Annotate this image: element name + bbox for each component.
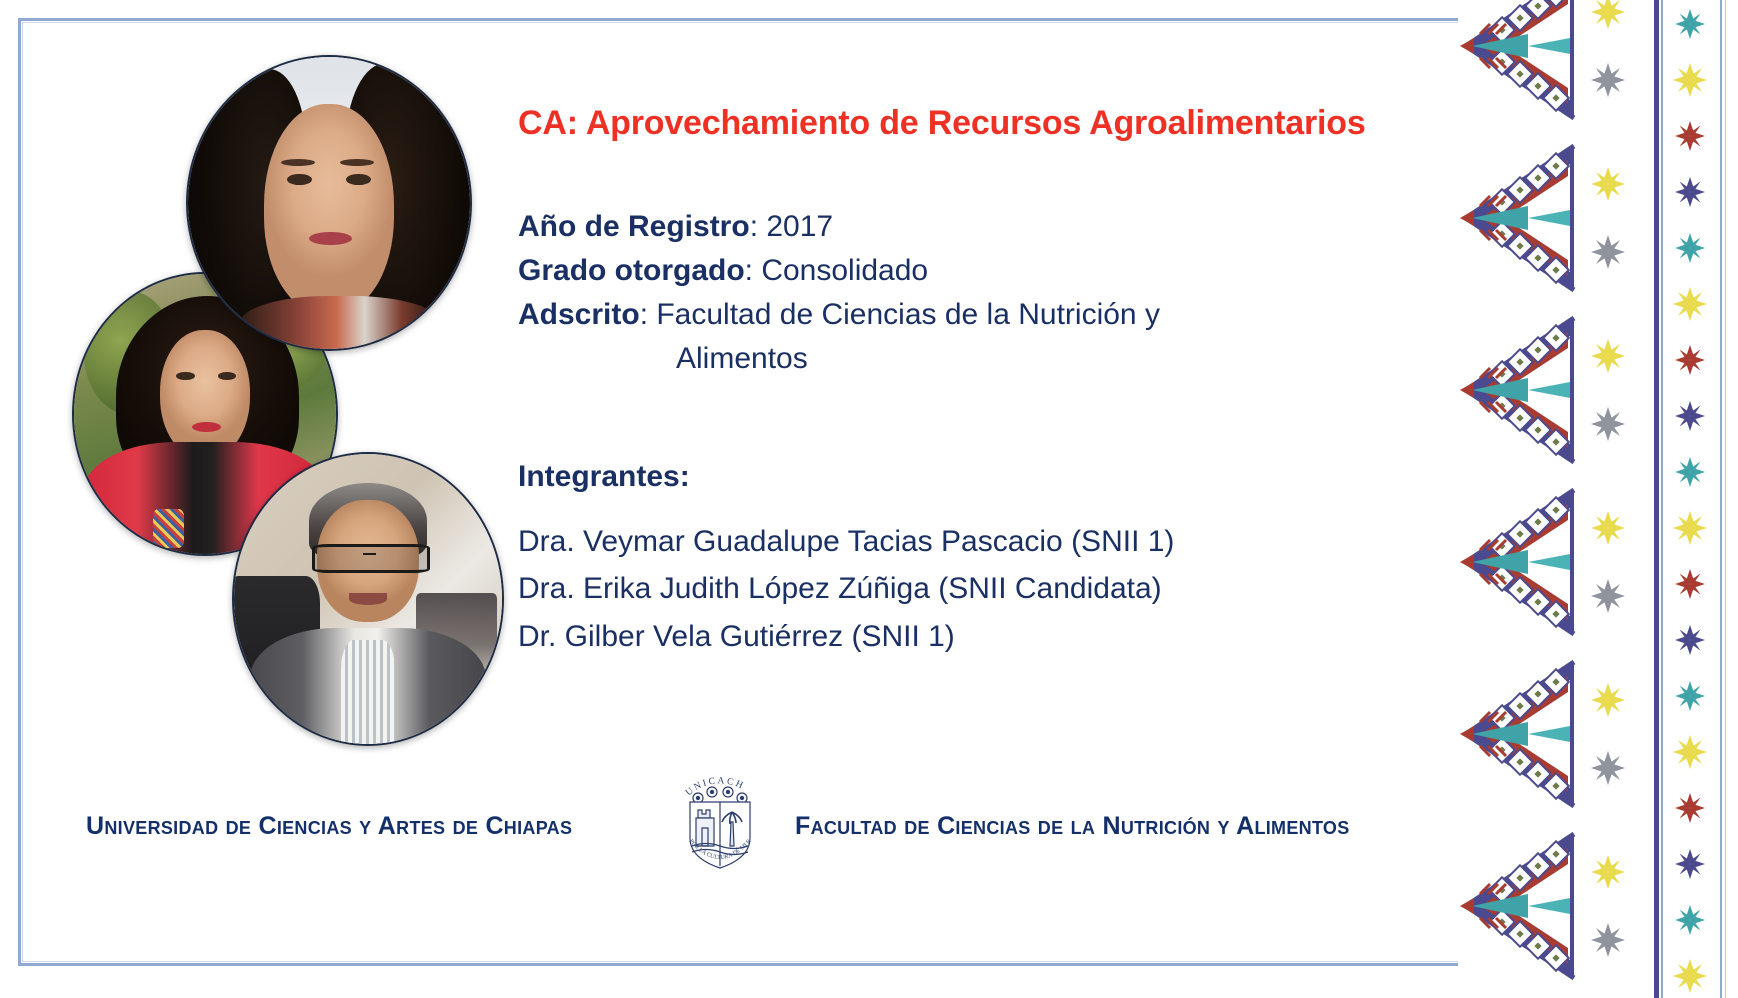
unicach-crest-icon: UNICACH POR LA CULTURA DE MI RAZA [672, 766, 768, 876]
meta-label-registro: Año de Registro [518, 210, 750, 243]
meta-row-registro: Año de Registro: 2017 [518, 205, 1358, 249]
list-item: Dr. Gilber Vela Gutiérrez (SNII 1) [518, 613, 1378, 660]
meta-label-adscrito: Adscrito [518, 298, 640, 331]
meta-value-grado: : Consolidado [745, 254, 928, 287]
meta-value-registro: : 2017 [750, 210, 833, 243]
meta-row-grado: Grado otorgado: Consolidado [518, 249, 1358, 293]
meta-label-grado: Grado otorgado [518, 254, 745, 287]
slide-canvas: CA: Aprovechamiento de Recursos Agroalim… [0, 0, 1738, 998]
meta-row-adscrito: Adscrito: Facultad de Ciencias de la Nut… [518, 293, 1358, 381]
footer-university-name: Universidad de Ciencias y Artes de Chiap… [86, 812, 572, 841]
portrait-photo-bottom [232, 452, 504, 746]
portrait-photo-top [186, 55, 472, 351]
crest-top-text: UNICACH [684, 776, 746, 798]
slide-title: CA: Aprovechamiento de Recursos Agroalim… [518, 104, 1366, 143]
integrantes-list: Dra. Veymar Guadalupe Tacias Pascacio (S… [518, 518, 1378, 660]
list-item: Dra. Erika Judith López Zúñiga (SNII Can… [518, 565, 1378, 612]
chiapas-embroidery-border-ornament [1458, 0, 1738, 998]
metadata-block: Año de Registro: 2017 Grado otorgado: Co… [518, 205, 1358, 381]
integrantes-heading: Integrantes: [518, 460, 690, 494]
meta-value-adscrito-cont: Alimentos [518, 337, 1358, 381]
meta-value-adscrito: : Facultad de Ciencias de la Nutrición y [640, 298, 1160, 331]
list-item: Dra. Veymar Guadalupe Tacias Pascacio (S… [518, 518, 1378, 565]
footer-faculty-name: Facultad de Ciencias de la Nutrición y A… [795, 812, 1350, 841]
